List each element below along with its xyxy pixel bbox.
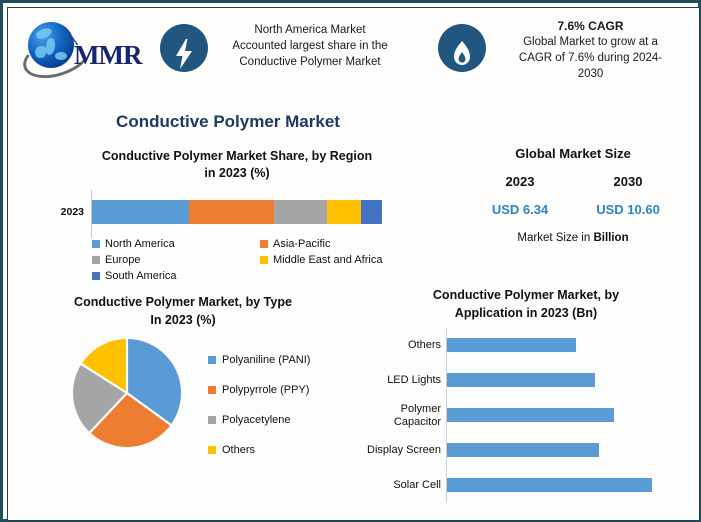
brand-logo-text: MMR [74,40,141,71]
badge-headline: 7.6% CAGR [498,18,683,34]
stacked-bar-segment-4 [361,200,382,224]
global-market-size-panel: Global Market Size 2023 2030 USD 6.34 US… [448,146,698,271]
badge-line-2: Accounted largest share in the [232,40,387,52]
bar-track [446,433,699,468]
category-label: PolymerCapacitor [353,403,446,429]
badge-north-america: North America Market Accounted largest s… [160,18,390,80]
badge-line-3: 2030 [578,68,604,80]
bar-row: PolymerCapacitor [353,398,699,433]
legend-label: Asia-Pacific [273,238,330,250]
legend-label: Europe [105,254,140,266]
chart-title-line-1: Conductive Polymer Market, by [433,288,619,302]
infographic-frame: ⁄ MMR North America Market Accounted lar… [0,0,701,522]
stacked-bar-segment-2 [274,200,327,224]
badge-circle [160,24,208,72]
legend-label: Polyaniline (PANI) [222,354,310,366]
bar-track [446,468,699,503]
legend-item[interactable]: South America [92,268,260,284]
chart-legend: North AmericaAsia-PacificEuropeMiddle Ea… [92,236,432,284]
chart-title-line-1: Conductive Polymer Market, by Type [74,295,292,309]
legend-swatch [92,256,100,264]
legend-item[interactable]: Polyacetylene [208,405,358,435]
bar-fill[interactable] [447,408,614,422]
legend-swatch [260,240,268,248]
bar-row: Solar Cell [353,468,699,503]
legend-swatch [208,356,216,364]
legend-item[interactable]: North America [92,236,260,252]
badge-text: North America Market Accounted largest s… [220,22,400,70]
category-label-line: LED Lights [387,374,441,386]
units-note: Market Size in Billion [448,232,698,244]
category-label-line: Solar Cell [393,479,441,491]
legend-label: North America [105,238,175,250]
bar-rows: OthersLED LightsPolymerCapacitorDisplay … [353,328,699,503]
stacked-bar-segment-1 [189,200,274,224]
stacked-bar [92,200,382,224]
application-chart: Conductive Polymer Market, by Applicatio… [353,286,699,518]
market-value-2030: USD 10.60 [578,202,678,217]
stacked-bar-segment-3 [327,200,361,224]
bar-fill[interactable] [447,373,595,387]
category-label-line: Polymer [401,403,441,415]
region-share-chart: Conductive Polymer Market Share, by Regi… [22,148,442,278]
legend-label: Polypyrrole (PPY) [222,384,309,396]
badge-circle [438,24,486,72]
category-label-line: Capacitor [394,416,441,428]
legend-item[interactable]: Others [208,435,358,465]
category-label: Display Screen [353,444,446,457]
units-note-bold: Billion [593,232,628,244]
bar-track [446,363,699,398]
chart-title: Conductive Polymer Market Share, by Regi… [62,148,412,182]
bar-track [446,328,699,363]
chart-title-line-2: in 2023 (%) [204,166,269,180]
badge-text: 7.6% CAGR Global Market to grow at a CAG… [498,18,683,82]
chart-title: Conductive Polymer Market, by Applicatio… [361,286,691,322]
legend-item[interactable]: Europe [92,252,260,268]
legend-swatch [208,446,216,454]
badge-line-2: CAGR of 7.6% during 2024- [519,52,662,64]
chart-title-line-2: Application in 2023 (Bn) [455,306,597,320]
badge-cagr: 7.6% CAGR Global Market to grow at a CAG… [438,18,688,80]
legend-item[interactable]: Asia-Pacific [260,236,428,252]
legend-swatch [92,240,100,248]
legend-item[interactable]: Polyaniline (PANI) [208,345,358,375]
stacked-bar-segment-0 [92,200,189,224]
chart-title: Conductive Polymer Market, by Type In 20… [18,293,348,329]
lightning-bolt-icon [173,38,195,70]
market-value-2023: USD 6.34 [470,202,570,217]
bar-row: Others [353,328,699,363]
year-label-2030: 2030 [578,174,678,189]
brand-logo: ⁄ MMR [22,16,154,74]
legend-item[interactable]: Middle East and Africa [260,252,428,268]
bar-row: Display Screen [353,433,699,468]
panel-heading: Global Market Size [448,146,698,161]
type-share-chart: Conductive Polymer Market, by Type In 20… [18,293,358,518]
legend-label: South America [105,270,177,282]
y-axis-tick-label: 2023 [36,206,84,218]
infographic-inner: ⁄ MMR North America Market Accounted lar… [7,7,700,521]
chart-title-line-1: Conductive Polymer Market Share, by Regi… [102,149,372,163]
legend-label: Middle East and Africa [273,254,382,266]
category-label: Others [353,339,446,352]
flame-icon [451,38,473,70]
year-label-2023: 2023 [470,174,570,189]
legend-swatch [208,416,216,424]
bar-fill[interactable] [447,338,576,352]
logo-flourish-icon: ⁄ [69,21,74,52]
legend-swatch [92,272,100,280]
legend-label: Polyacetylene [222,414,291,426]
badge-line-1: Global Market to grow at a [523,36,658,48]
badge-line-1: North America Market [254,24,365,36]
legend-label: Others [222,444,255,456]
badge-line-3: Conductive Polymer Market [239,56,380,68]
bar-row: LED Lights [353,363,699,398]
category-label: Solar Cell [353,479,446,492]
category-label: LED Lights [353,374,446,387]
bar-fill[interactable] [447,443,599,457]
pie-slice-separators [73,339,181,447]
bar-fill[interactable] [447,478,652,492]
legend-swatch [208,386,216,394]
units-note-prefix: Market Size in [517,232,593,244]
chart-title-line-2: In 2023 (%) [150,313,215,327]
category-label-line: Others [408,339,441,351]
chart-legend: Polyaniline (PANI)Polypyrrole (PPY)Polya… [208,345,358,465]
header: ⁄ MMR North America Market Accounted lar… [8,8,699,96]
legend-item[interactable]: Polypyrrole (PPY) [208,375,358,405]
page-title: Conductive Polymer Market [8,112,448,132]
bar-track [446,398,699,433]
category-label-line: Display Screen [367,444,441,456]
legend-swatch [260,256,268,264]
